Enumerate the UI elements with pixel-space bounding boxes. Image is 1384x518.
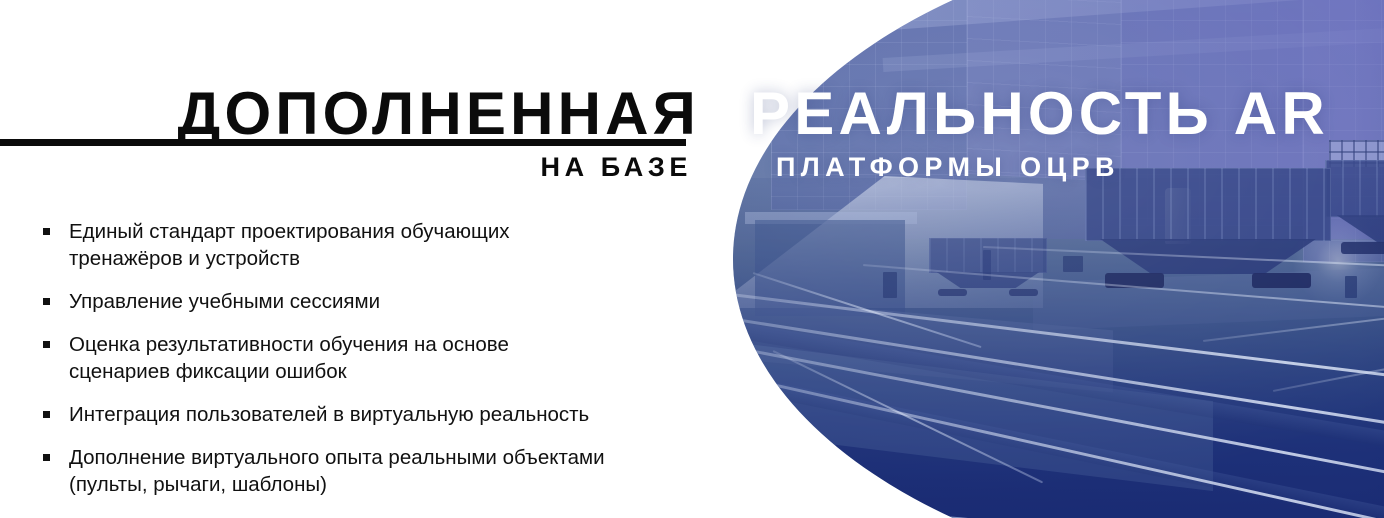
square-bullet-icon xyxy=(43,341,50,348)
hero-photo-panel xyxy=(733,0,1384,518)
page-title-primary: ДОПОЛНЕННАЯ xyxy=(0,84,700,144)
list-item: Единый стандарт проектирования обучающих… xyxy=(40,218,760,272)
list-item-label: Оценка результативности обучения на осно… xyxy=(69,331,760,385)
title-underline-rule xyxy=(0,139,686,146)
page-subtitle-primary: НА БАЗЕ xyxy=(0,152,692,182)
list-item-label: Интеграция пользователей в виртуальную р… xyxy=(69,401,760,428)
square-bullet-icon xyxy=(43,228,50,235)
list-item-label: Дополнение виртуального опыта реальными … xyxy=(69,444,760,498)
slide-canvas: ДОПОЛНЕННАЯ РЕАЛЬНОСТЬ AR НА БАЗЕ ПЛАТФО… xyxy=(0,0,1384,518)
list-item: Дополнение виртуального опыта реальными … xyxy=(40,444,760,498)
square-bullet-icon xyxy=(43,298,50,305)
feature-bullet-list: Единый стандарт проектирования обучающих… xyxy=(40,218,760,498)
list-item-label: Управление учебными сессиями xyxy=(69,288,760,315)
list-item: Оценка результативности обучения на осно… xyxy=(40,331,760,385)
square-bullet-icon xyxy=(43,454,50,461)
list-item: Управление учебными сессиями xyxy=(40,288,760,315)
list-item-label: Единый стандарт проектирования обучающих… xyxy=(69,218,760,272)
hero-photo-image xyxy=(733,0,1384,518)
list-item: Интеграция пользователей в виртуальную р… xyxy=(40,401,760,428)
page-title-secondary: РЕАЛЬНОСТЬ AR xyxy=(750,84,1329,144)
square-bullet-icon xyxy=(43,411,50,418)
photo-vignette xyxy=(733,0,1384,518)
page-subtitle-secondary: ПЛАТФОРМЫ ОЦРВ xyxy=(776,152,1120,182)
